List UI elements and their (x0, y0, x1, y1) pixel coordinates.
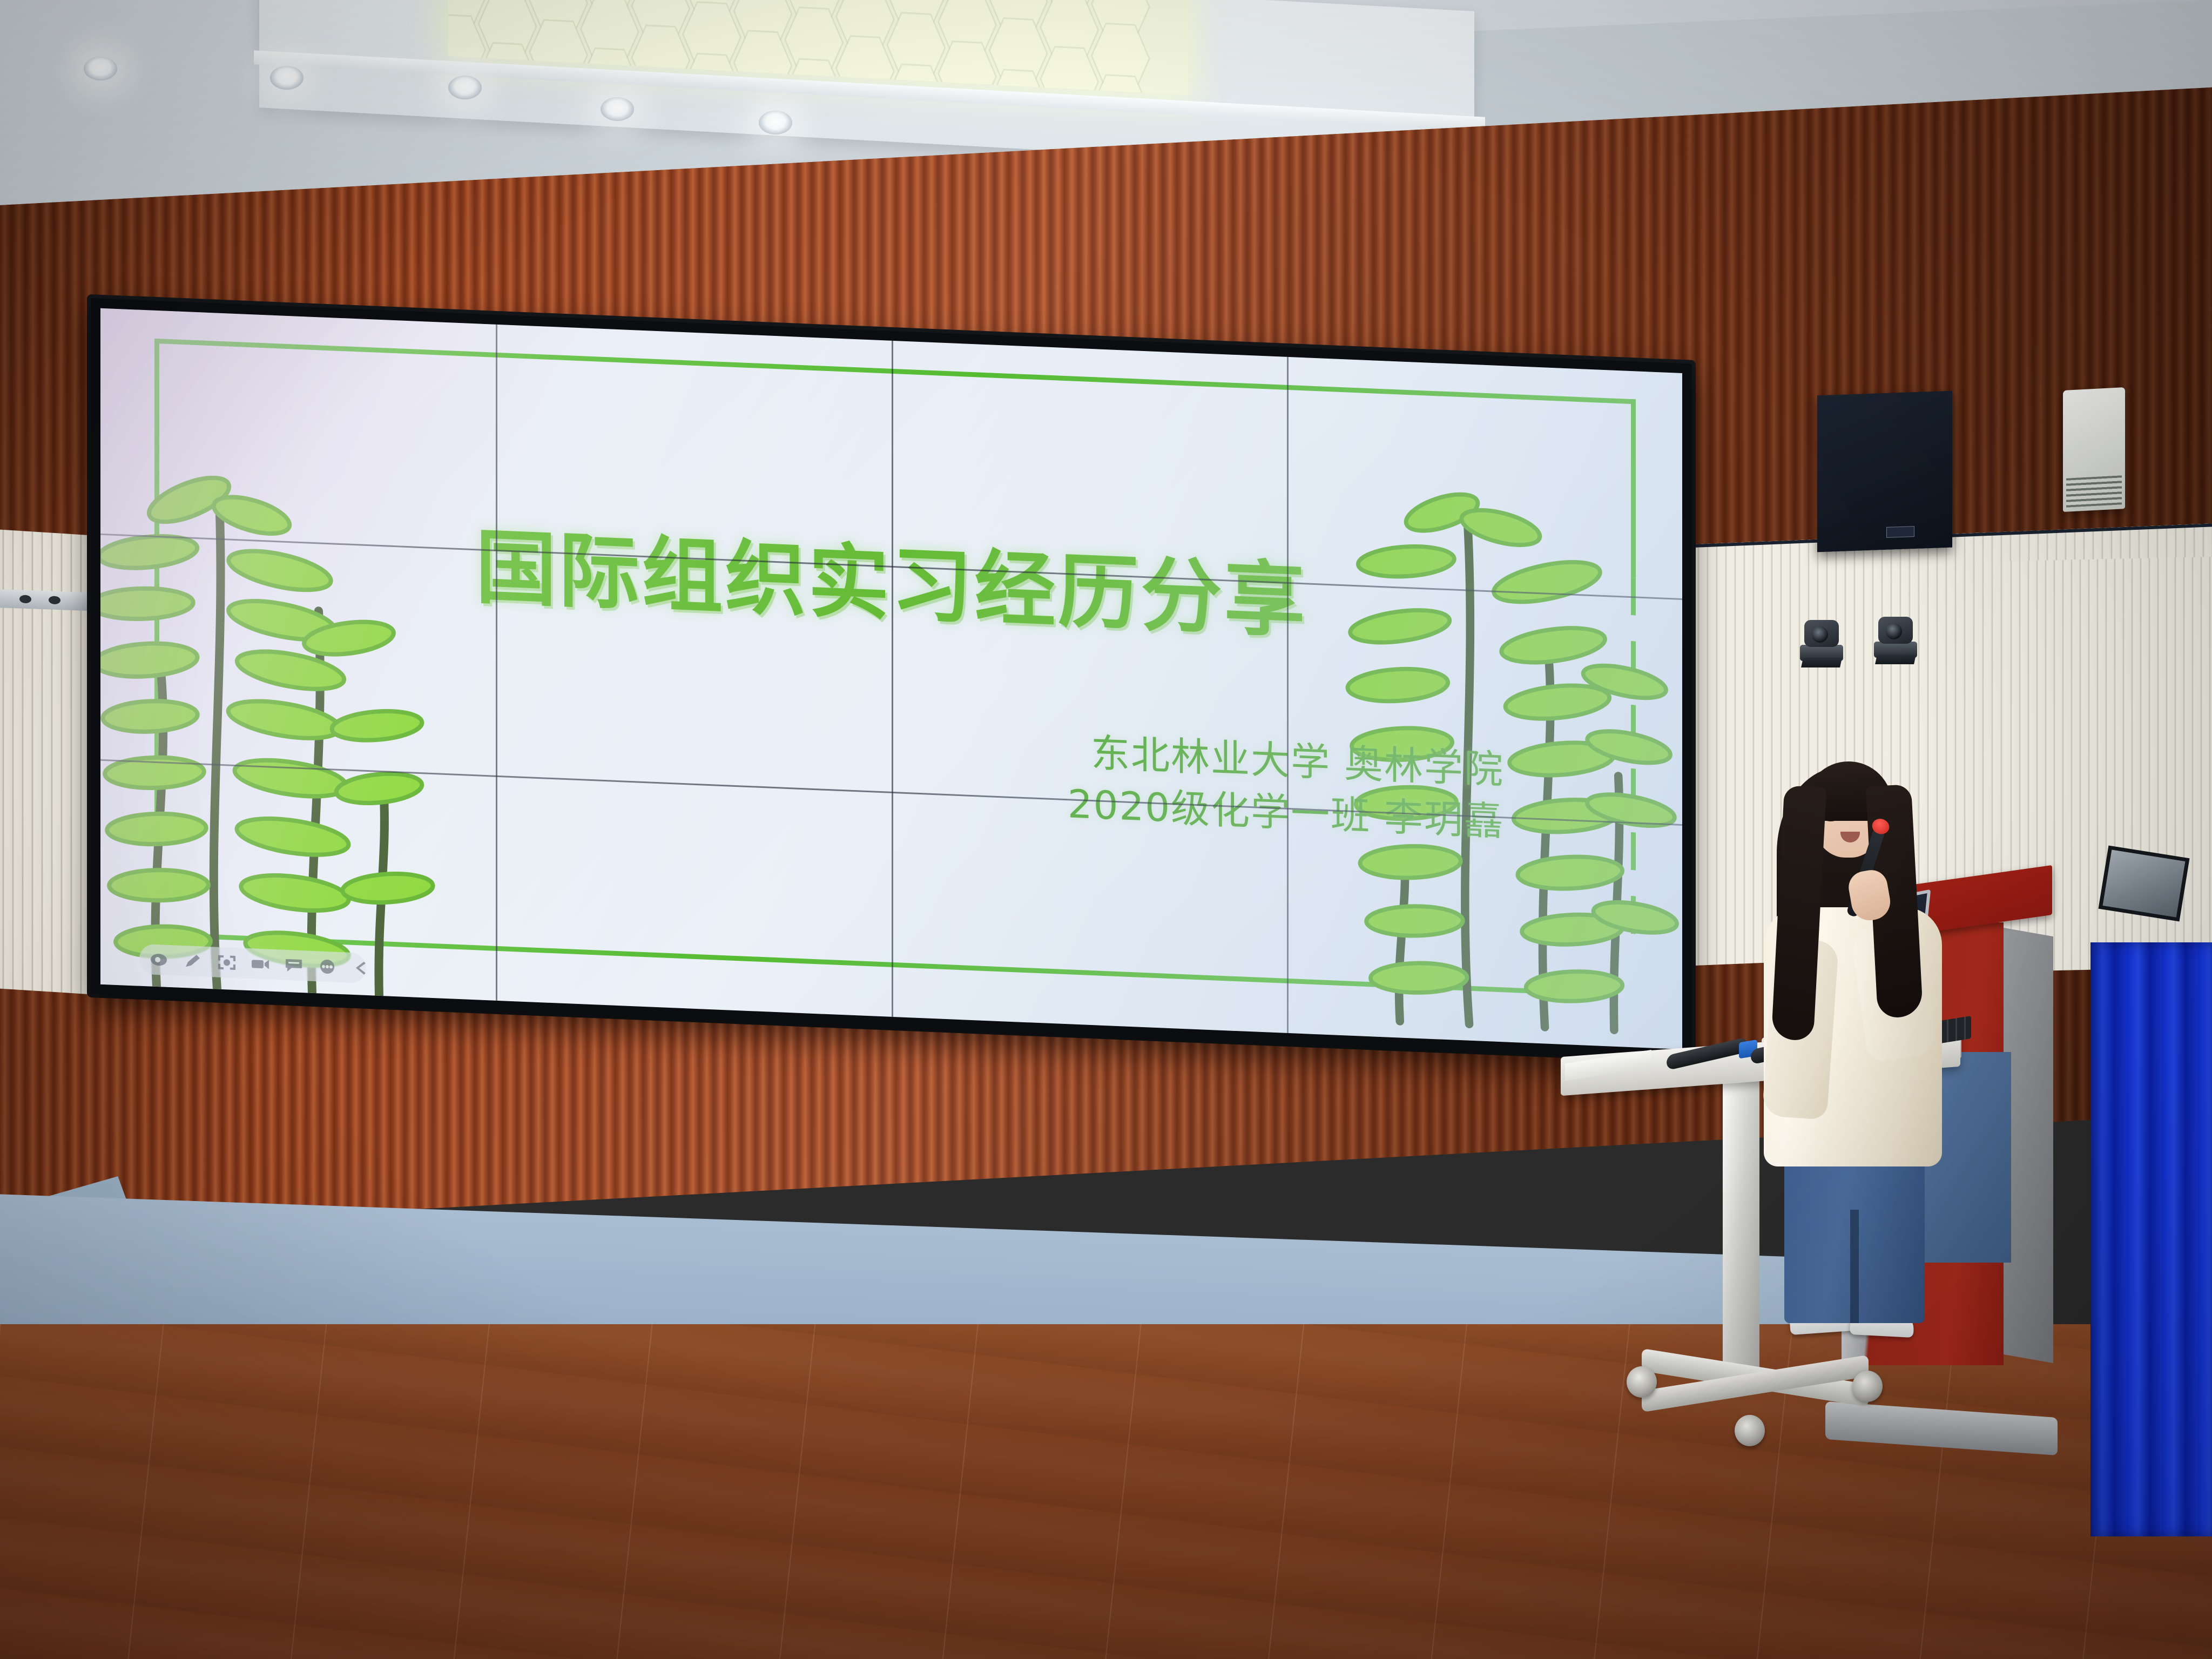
document-sheet (1565, 1050, 1651, 1081)
laser-pointer-icon[interactable] (150, 952, 170, 968)
slide-subtitle: 东北林业大学 奥林学院 2020级化学一班 李玥嚞 (1068, 726, 1504, 848)
pen-icon[interactable] (184, 953, 203, 969)
loudspeaker (1817, 391, 1952, 552)
wall-mount-bracket (0, 589, 95, 611)
downlight-icon (84, 57, 117, 80)
wall-monitor (2098, 846, 2189, 922)
presenter (1744, 745, 1971, 1355)
caster-wheel (1627, 1366, 1657, 1398)
downlight-icon (759, 111, 792, 134)
videowall-bezel-seam (892, 341, 893, 1017)
video-wall[interactable]: 国际组织实习经历分享 东北林业大学 奥林学院 2020级化学一班 李玥嚞 (91, 298, 1692, 1060)
collapse-left-icon[interactable] (351, 960, 370, 976)
presentation-toolbar[interactable] (139, 944, 366, 983)
downlight-icon (448, 76, 482, 99)
jeans (1784, 1145, 1925, 1323)
caster-wheel (1735, 1415, 1765, 1446)
lecture-hall-scene: 国际组织实习经历分享 东北林业大学 奥林学院 2020级化学一班 李玥嚞 (0, 0, 2212, 1659)
speaker-badge (1886, 526, 1914, 538)
blue-curtain (2090, 942, 2212, 1536)
videowall-bezel-seam (1287, 357, 1289, 1033)
videowall-bezel-seam (496, 325, 497, 1001)
focus-capture-icon[interactable] (217, 954, 237, 971)
annotate-icon[interactable] (284, 957, 304, 974)
video-record-icon[interactable] (251, 955, 270, 972)
downlight-icon (270, 66, 304, 90)
air-conditioner-unit (2063, 387, 2125, 512)
video-wall-screen[interactable]: 国际组织实习经历分享 东北林业大学 奥林学院 2020级化学一班 李玥嚞 (100, 308, 1682, 1049)
downlight-icon (601, 97, 634, 121)
microphone[interactable] (1666, 1037, 1748, 1070)
hex-cell (1040, 45, 1099, 95)
caster-wheel (1852, 1371, 1883, 1402)
ptz-camera-icon (1800, 620, 1843, 667)
ptz-camera-icon (1874, 617, 1917, 664)
more-options-icon[interactable] (318, 958, 337, 975)
